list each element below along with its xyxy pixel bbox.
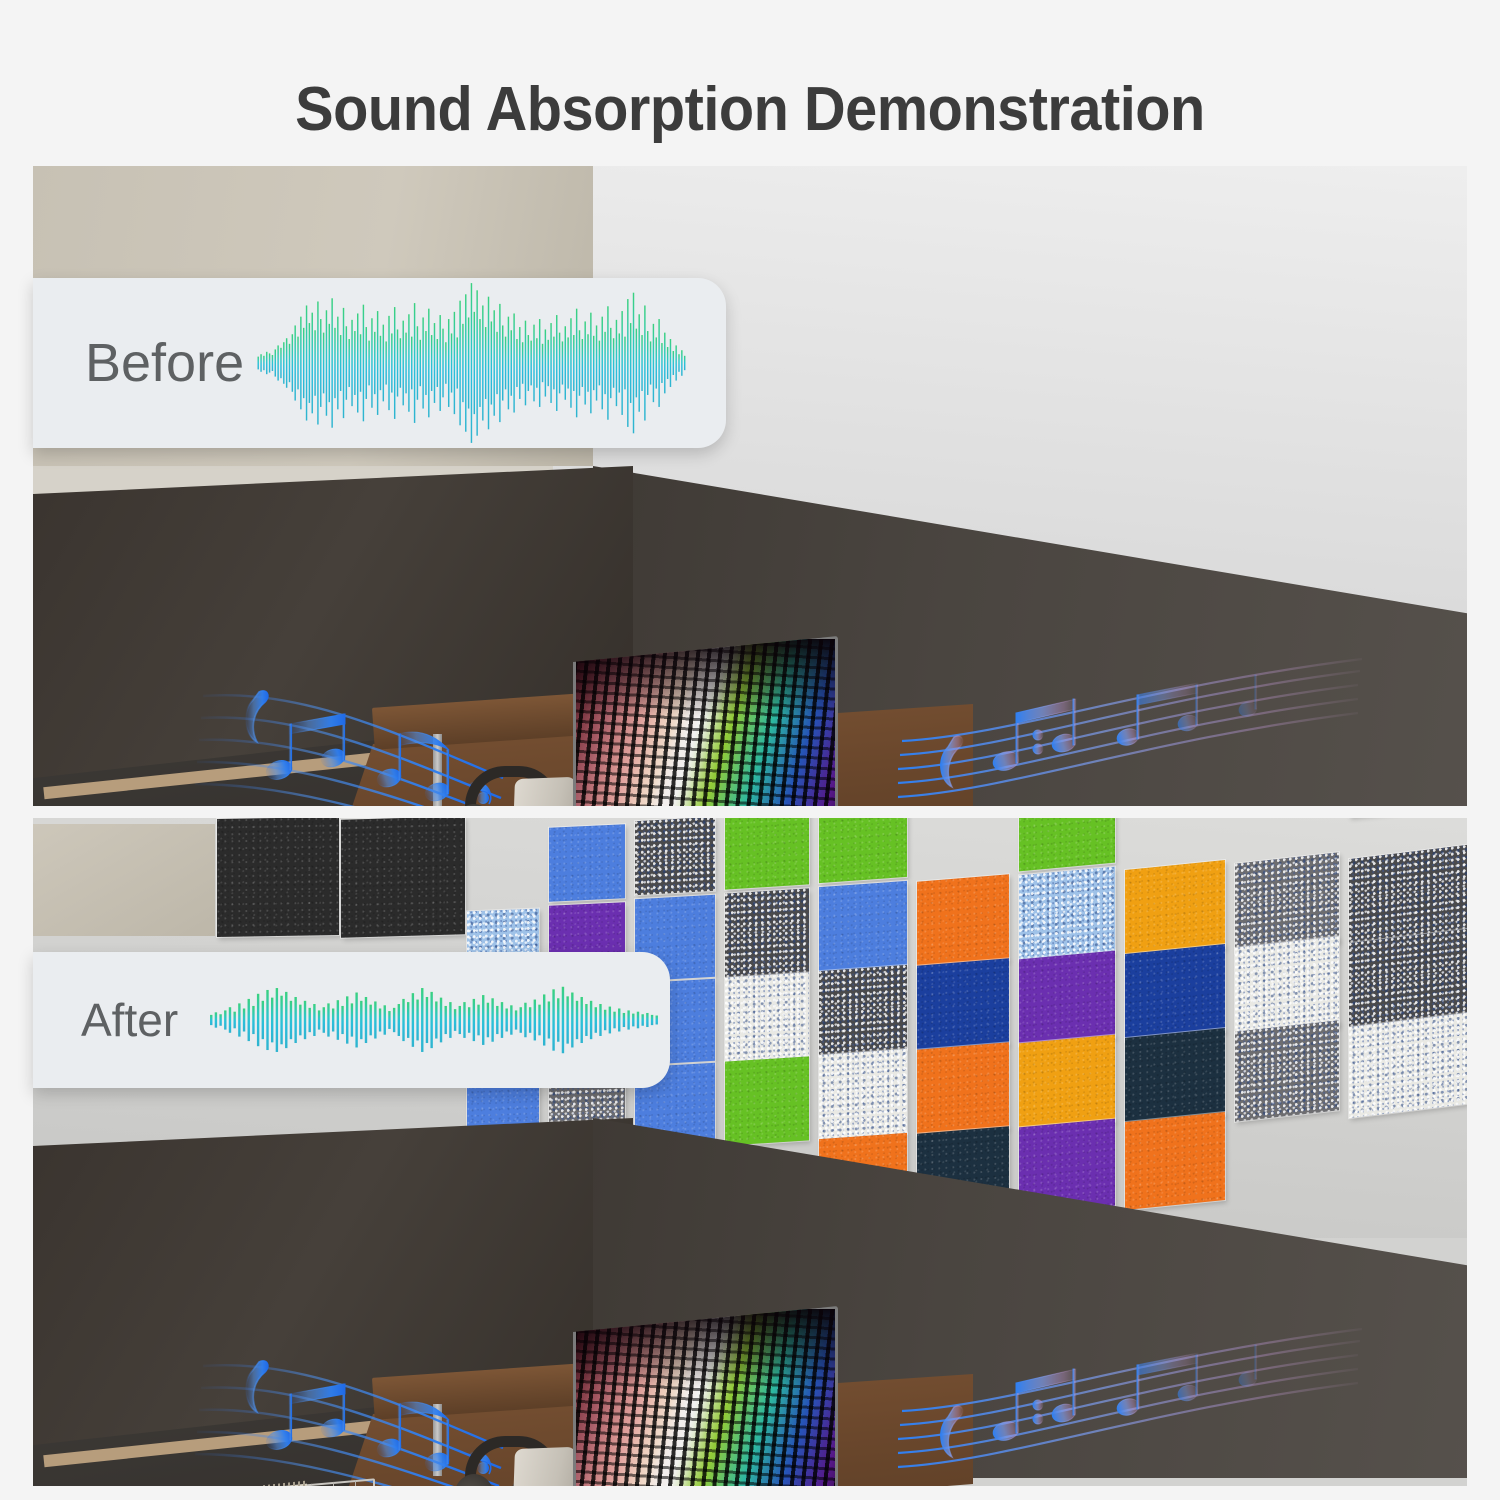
acoustic-panel — [725, 888, 809, 977]
demo-page: Sound Absorption Demonstration — [0, 0, 1500, 1500]
acoustic-panel — [917, 958, 1009, 1051]
acoustic-panel — [1019, 1035, 1115, 1131]
after-label: After — [81, 993, 178, 1047]
after-waveform — [178, 952, 670, 1088]
monitor-screen-equalizer — [573, 1306, 838, 1486]
acoustic-panel — [725, 1056, 809, 1145]
acoustic-panel — [217, 818, 339, 937]
acoustic-panel — [635, 818, 715, 895]
before-label-card: Before — [33, 278, 726, 448]
page-title: Sound Absorption Demonstration — [53, 74, 1448, 145]
acoustic-panel — [819, 881, 907, 972]
acoustic-panel — [819, 1049, 907, 1140]
acoustic-panel — [1019, 867, 1115, 963]
acoustic-panel — [1019, 818, 1115, 871]
shelf-leg — [433, 734, 442, 806]
acoustic-panel — [341, 818, 465, 938]
acoustic-panel — [1125, 944, 1225, 1042]
speaker-stand — [511, 1447, 577, 1486]
acoustic-panel — [1125, 1028, 1225, 1126]
curved-monitor: BenQ — [573, 1306, 838, 1486]
shelf-leg — [433, 1404, 442, 1476]
acoustic-panel — [725, 972, 809, 1061]
acoustic-panel — [1235, 1020, 1339, 1121]
beige-cabinet — [33, 824, 215, 936]
before-label: Before — [85, 332, 244, 394]
acoustic-panel — [1125, 1112, 1225, 1210]
acoustic-panel — [819, 965, 907, 1056]
before-waveform — [244, 278, 726, 448]
acoustic-panel — [1125, 860, 1225, 958]
speaker-stand — [511, 777, 577, 806]
acoustic-panel — [725, 818, 809, 889]
after-label-card: After — [33, 952, 670, 1088]
acoustic-panel — [819, 818, 907, 883]
acoustic-panel — [1019, 951, 1115, 1047]
acoustic-panel — [917, 874, 1009, 967]
after-scene-photo: BenQ — [33, 818, 1467, 1486]
acoustic-panel — [917, 1042, 1009, 1135]
monitor-screen-equalizer — [573, 636, 838, 806]
curved-monitor: BenQ — [573, 636, 838, 806]
before-scene-photo: BenQ — [33, 166, 1467, 806]
acoustic-panel — [1349, 1012, 1467, 1117]
acoustic-panel — [549, 824, 625, 902]
notepad — [261, 1484, 307, 1486]
